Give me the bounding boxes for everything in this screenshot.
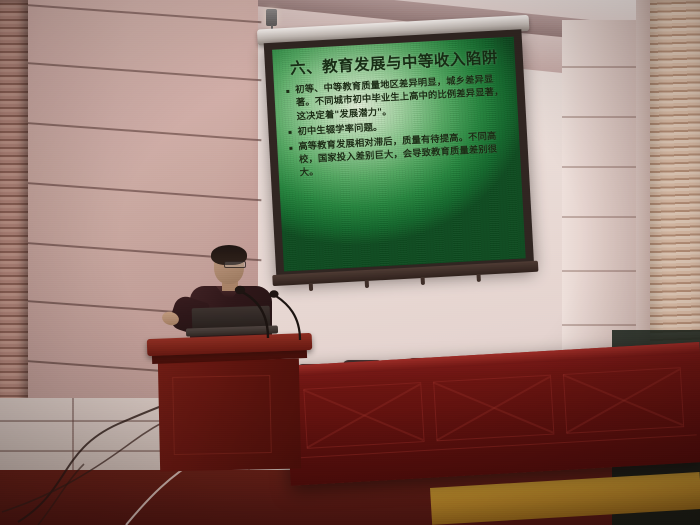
presentation-photo-scene: 六、教育发展与中等收入陷阱 初等、中等教育质量地区差异明显，城乡差异显著。不同城… (0, 0, 700, 525)
screen-frame: 六、教育发展与中等收入陷阱 初等、中等教育质量地区差异明显，城乡差异显著。不同城… (264, 29, 534, 281)
slide-bullet-list: 初等、中等教育质量地区差异明显，城乡差异显著。不同城市初中毕业生上高中的比例差异… (284, 72, 511, 180)
microphones (150, 270, 330, 350)
podium-panel-inset (172, 375, 272, 455)
head-table (284, 342, 700, 486)
wall-lamp-icon (266, 9, 277, 26)
slide-content: 六、教育发展与中等收入陷阱 初等、中等教育质量地区差异明显，城乡差异显著。不同城… (272, 37, 526, 272)
podium (147, 336, 312, 470)
screen-surface: 六、教育发展与中等收入陷阱 初等、中等教育质量地区差异明显，城乡差异显著。不同城… (272, 37, 526, 272)
glasses-icon (224, 261, 246, 268)
slide-title: 六、教育发展与中等收入陷阱 (283, 49, 506, 77)
